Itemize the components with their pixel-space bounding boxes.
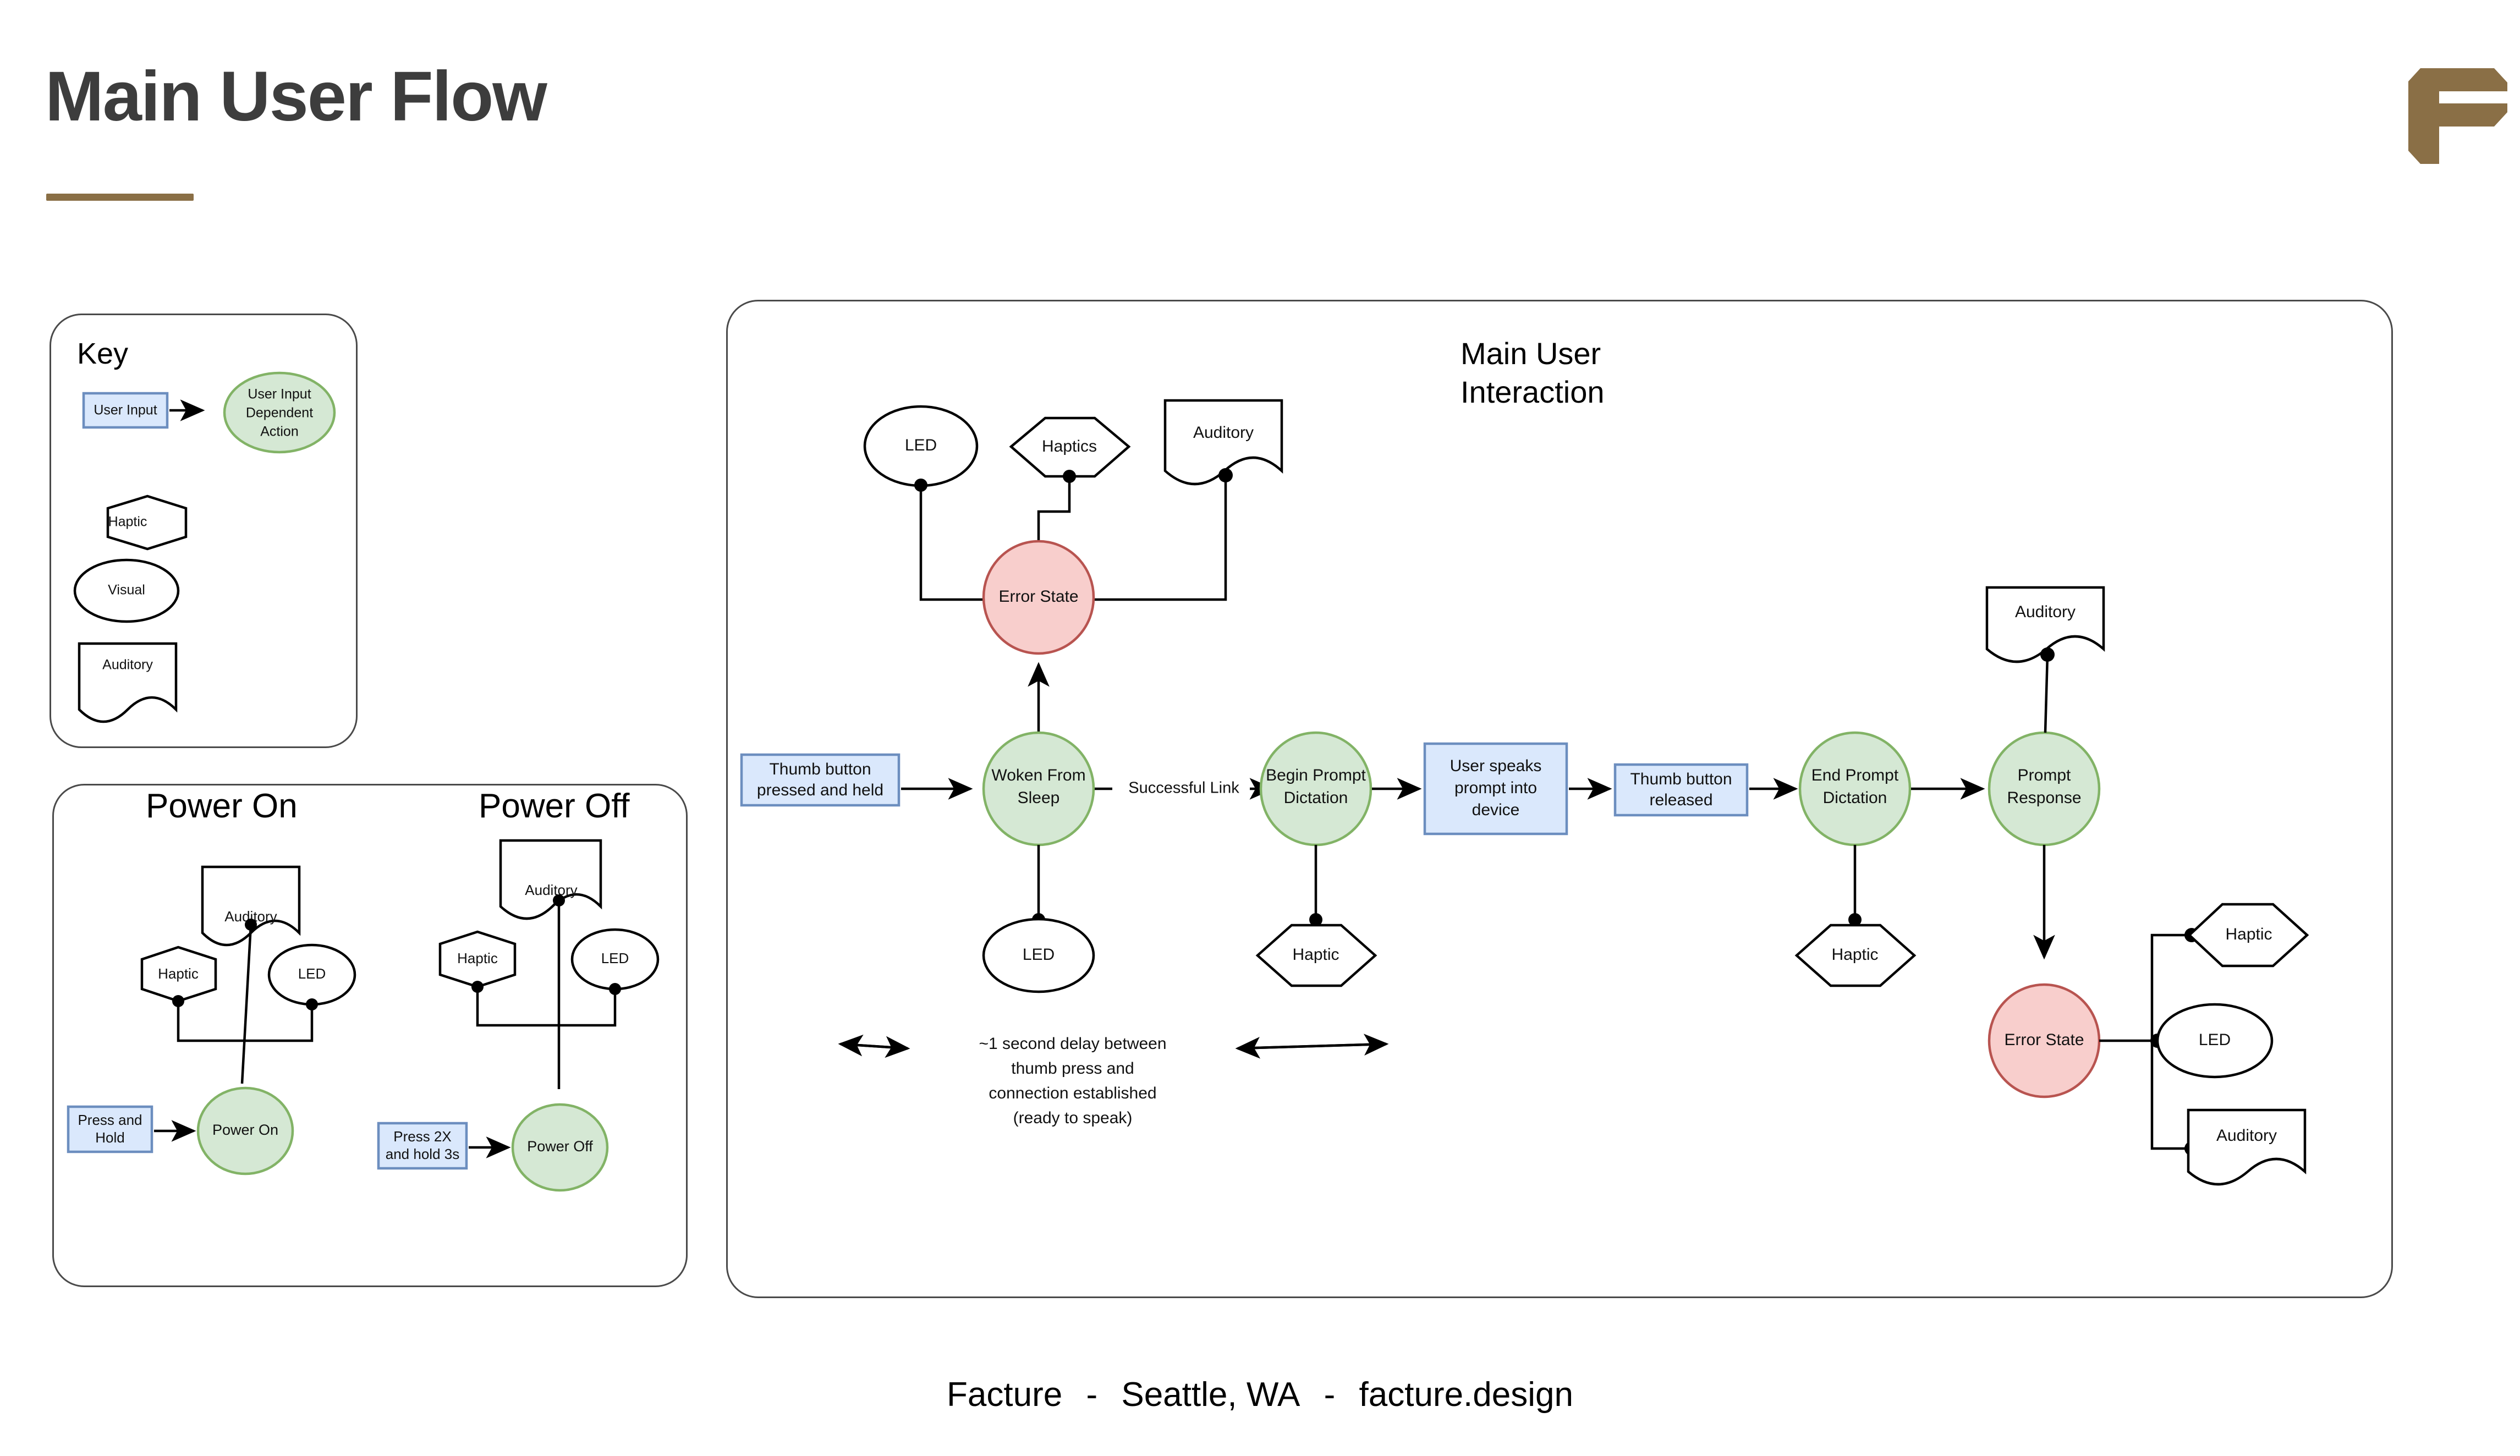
page-title: Main User Flow: [45, 62, 546, 132]
main-interaction-panel: [726, 300, 2393, 1298]
footer-location: Seattle, WA: [1121, 1375, 1300, 1414]
power-states-panel: [52, 784, 688, 1287]
footer-company: Facture: [947, 1375, 1062, 1414]
title-accent-rule: [46, 194, 194, 201]
power-off-heading: Power Off: [479, 787, 630, 826]
footer-separator-2: -: [1310, 1375, 1350, 1414]
slide-footer: Facture - Seattle, WA - facture.design: [0, 1375, 2520, 1414]
main-interaction-heading: Main User Interaction: [1461, 334, 1605, 411]
footer-website: facture.design: [1359, 1375, 1573, 1414]
key-panel-heading: Key: [77, 337, 128, 371]
power-on-heading: Power On: [146, 787, 298, 826]
key-panel: [50, 314, 358, 748]
footer-separator-1: -: [1072, 1375, 1112, 1414]
slide-canvas: Main User Flow Key Power On Power Off Ma…: [0, 0, 2520, 1456]
facture-f-logo: [2386, 51, 2507, 166]
